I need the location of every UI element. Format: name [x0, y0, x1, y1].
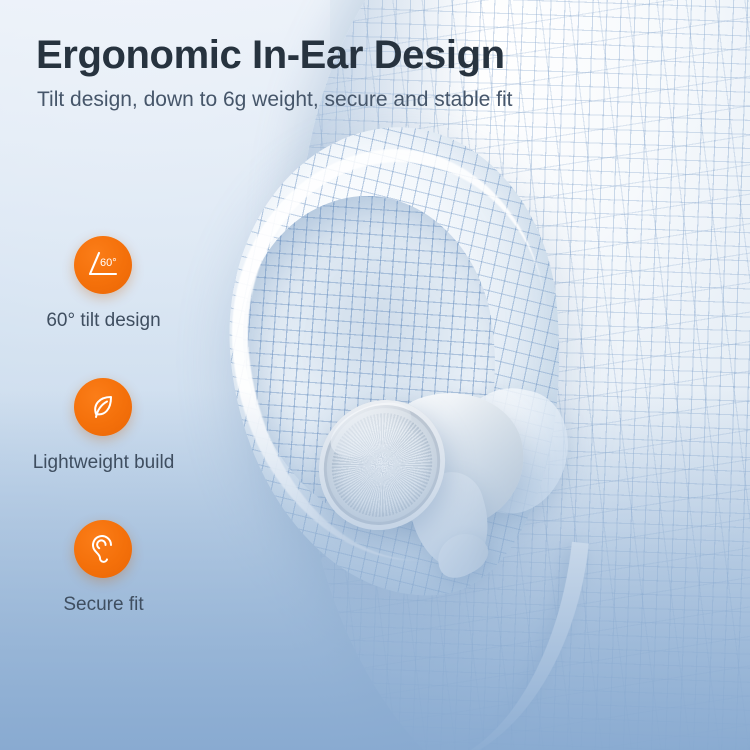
- feature-item-lightweight: Lightweight build: [0, 378, 260, 520]
- angle-60-icon: 60°: [74, 236, 132, 294]
- feature-label-secure: Secure fit: [0, 594, 207, 616]
- product-feature-banner: Ergonomic In-Ear Design Tilt design, dow…: [0, 0, 750, 750]
- feature-label-tilt: 60° tilt design: [0, 310, 207, 332]
- feature-label-lightweight: Lightweight build: [0, 452, 207, 474]
- feature-item-secure: Secure fit: [0, 520, 260, 662]
- page-title: Ergonomic In-Ear Design: [36, 33, 505, 78]
- page-subtitle: Tilt design, down to 6g weight, secure a…: [37, 88, 513, 112]
- ear-icon: [74, 520, 132, 578]
- feature-item-tilt: 60° 60° tilt design: [0, 236, 260, 378]
- leaf-icon: [74, 378, 132, 436]
- feature-list: 60° 60° tilt design Lightweight build: [0, 236, 260, 662]
- angle-value-text: 60°: [100, 257, 117, 269]
